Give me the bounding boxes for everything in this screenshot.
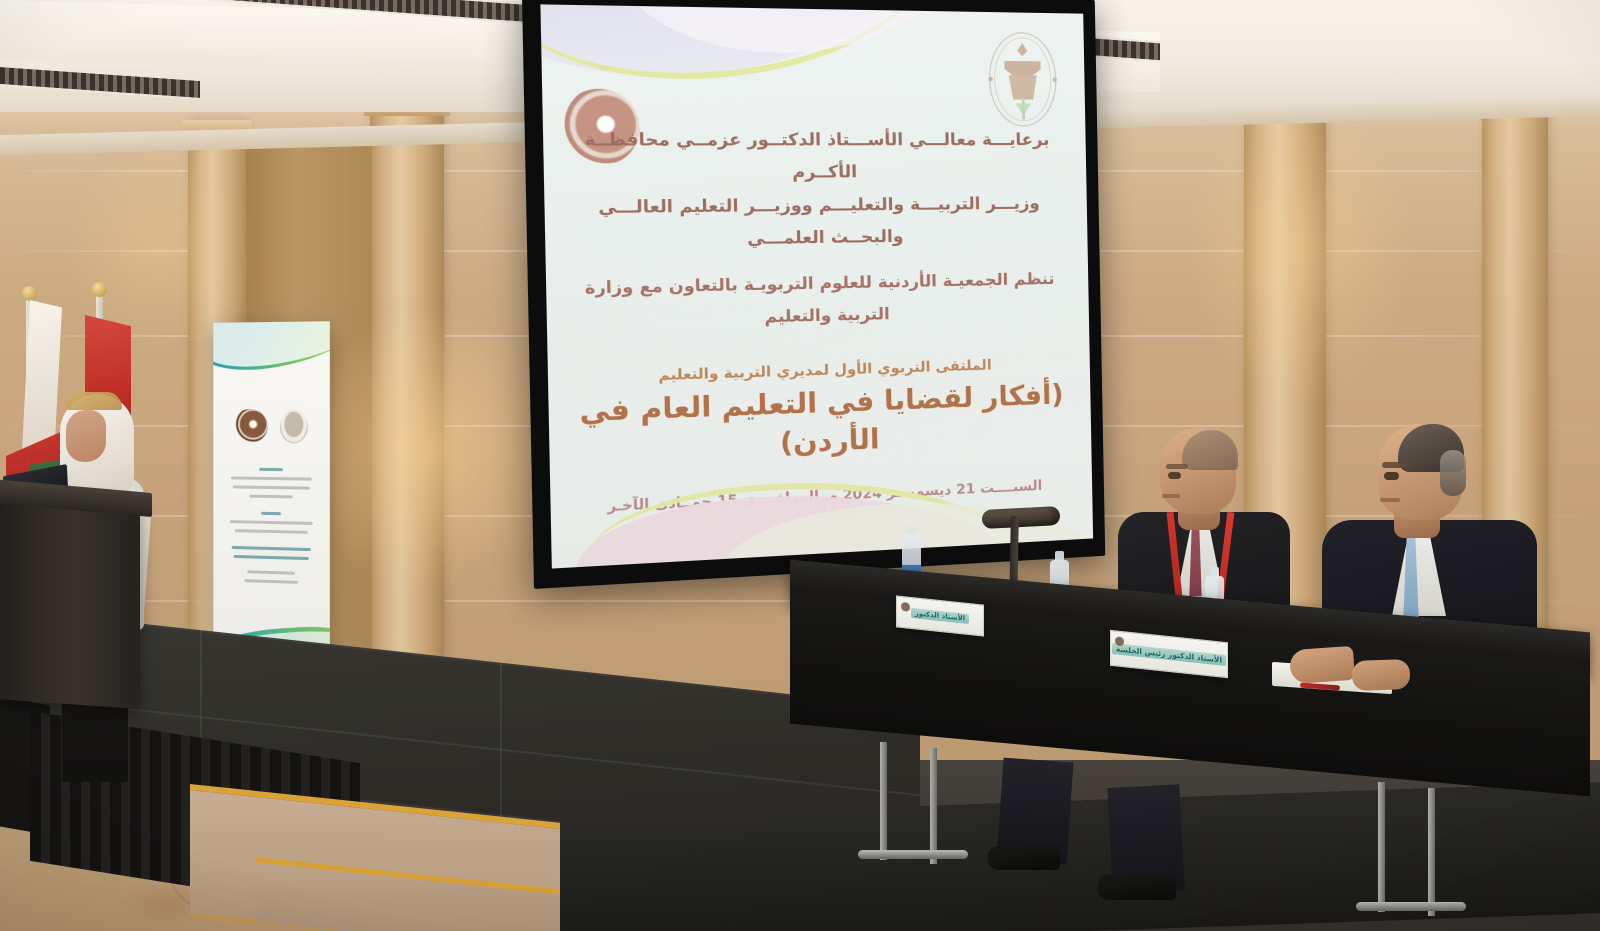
- presentation-slide: برعايـــة معالـــي الأســـتاذ الدكتــور …: [540, 4, 1093, 568]
- nameplate-logo: [901, 601, 910, 613]
- table-leg: [1428, 788, 1435, 916]
- panelist-left-brow: [1166, 464, 1188, 469]
- panelist-right-mouth: [1380, 498, 1400, 502]
- panelist-left-mouth: [1162, 494, 1180, 498]
- panelist-right-hand: [1289, 646, 1355, 684]
- table-leg: [930, 748, 937, 864]
- table-leg-base: [858, 850, 968, 859]
- panelist-left-eye: [1168, 472, 1181, 479]
- panelist-right-eye: [1384, 472, 1399, 480]
- podium: [0, 493, 140, 709]
- nameplate-left-text: الأستاذ الدكتور: [911, 608, 969, 624]
- slide-patron-line-1: برعايـــة معالـــي الأســـتاذ الدكتــور …: [572, 97, 1061, 190]
- nameplate-logo: [1115, 635, 1124, 647]
- slide-title: (أفكار لقضايا في التعليم العام في الأردن…: [578, 377, 1066, 471]
- banner-text-lines: [225, 461, 318, 590]
- table-leg: [1378, 782, 1385, 912]
- table-leg-base: [1356, 902, 1466, 911]
- society-circular-logo: [233, 409, 268, 443]
- table-leg: [880, 742, 887, 860]
- panelist-shoe: [1098, 874, 1176, 900]
- flag-pole-finial: [92, 282, 107, 297]
- rollup-banner: [213, 321, 330, 673]
- ministry-emblem-logo: [280, 409, 308, 443]
- slide-patron-line-2: وزيـــر التربيـــة والتعليـــم ووزيـــر …: [574, 187, 1062, 258]
- flag-pole-finial: [22, 286, 37, 301]
- banner-logos: [233, 408, 312, 444]
- table-gooseneck-microphone-head: [982, 506, 1061, 529]
- screen-frame: برعايـــة معالـــي الأســـتاذ الدكتــور …: [522, 0, 1105, 589]
- panelist-right-hair-side: [1440, 450, 1466, 496]
- presenter-headband: [66, 392, 122, 410]
- stone-pilaster: [370, 96, 444, 656]
- conference-photo-scene: برعايـــة معالـــي الأســـتاذ الدكتــور …: [0, 0, 1600, 931]
- panelist-right-hand: [1351, 659, 1410, 691]
- slide-organizer-line: تنظم الجمعيـة الأردنية للعلوم التربويـة …: [575, 264, 1063, 338]
- panelist-shoe: [988, 846, 1060, 870]
- presenter-face: [66, 410, 106, 462]
- projection-screen: برعايـــة معالـــي الأســـتاذ الدكتــور …: [522, 0, 1105, 589]
- panelist-right-brow: [1382, 462, 1408, 468]
- nameplate-right-text: الأستاذ الدكتور رئيس الجلسة: [1112, 643, 1226, 666]
